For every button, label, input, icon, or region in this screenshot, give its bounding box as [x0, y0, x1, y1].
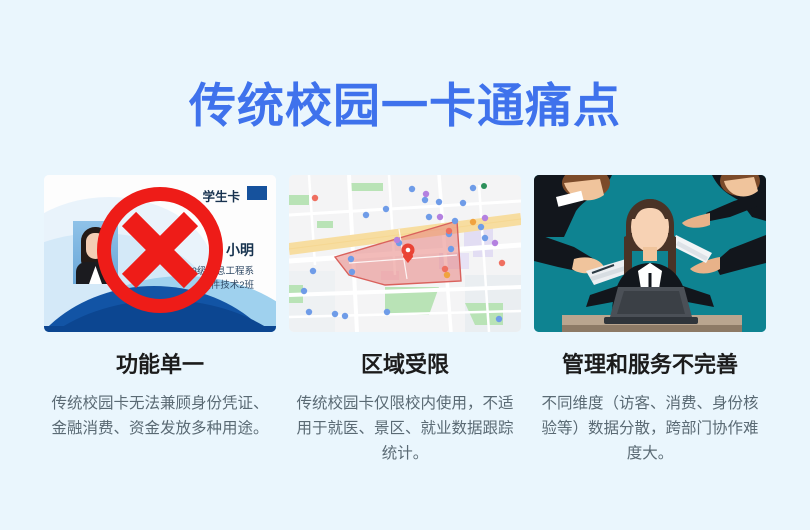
pain-point-card-region-limited: 区域受限 传统校园卡仅限校内使用，不适用于就医、景区、就业数据跟踪统计。: [289, 175, 521, 466]
card-title: 区域受限: [289, 351, 521, 379]
card-body: 传统校园卡无法兼顾身份凭证、金融消费、资金发放多种用途。: [44, 391, 276, 441]
map-thumbnail: [289, 175, 521, 332]
pain-point-card-management-service: 管理和服务不完善 不同维度（访客、消费、身份核验等）数据分散，跨部门协作难度大。: [534, 175, 766, 466]
student-card-thumbnail: 学生卡 小明 23级信息工程系 软件技术2班: [44, 175, 276, 332]
red-cross-circle-icon: [96, 186, 224, 314]
card-title: 功能单一: [44, 351, 276, 379]
pain-point-cards: 学生卡 小明 23级信息工程系 软件技术2班 功能单一 传统校园卡无法兼顾身份凭…: [44, 175, 766, 466]
office-illustration-thumbnail: [534, 175, 766, 332]
card-body: 不同维度（访客、消费、身份核验等）数据分散，跨部门协作难度大。: [534, 391, 766, 466]
overwhelmed-worker-illustration: [534, 175, 766, 332]
page-title: 传统校园一卡通痛点: [0, 78, 810, 134]
card-bottom-bar: [44, 326, 276, 332]
card-title: 管理和服务不完善: [534, 351, 766, 379]
card-body: 传统校园卡仅限校内使用，不适用于就医、景区、就业数据跟踪统计。: [289, 391, 521, 466]
campus-area-map-graphic: [289, 175, 521, 332]
school-logo-icon: [247, 186, 267, 200]
pain-point-card-single-function: 学生卡 小明 23级信息工程系 软件技术2班 功能单一 传统校园卡无法兼顾身份凭…: [44, 175, 276, 466]
student-name: 小明: [226, 240, 254, 260]
